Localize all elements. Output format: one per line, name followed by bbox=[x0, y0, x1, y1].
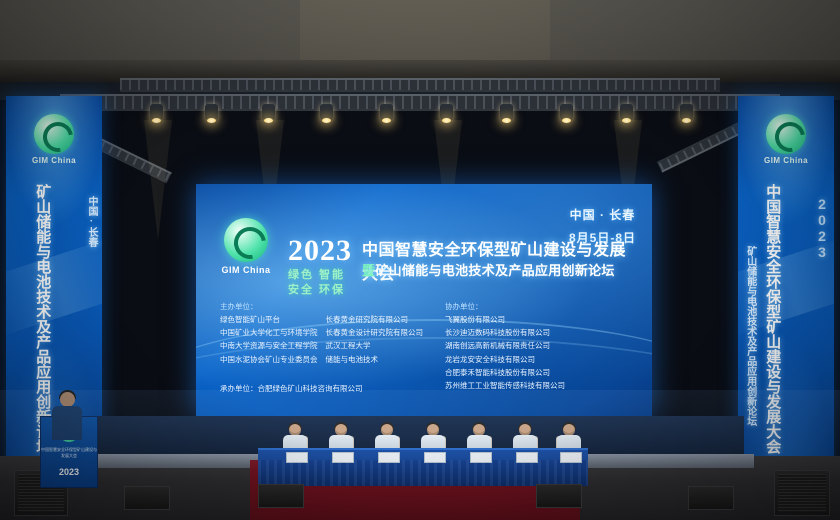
pillar-right-main-text: 中国智慧安全环保型矿山建设与发展大会 bbox=[764, 184, 780, 454]
screen-gim-logo: GIM China bbox=[214, 218, 278, 275]
stage-spotlight bbox=[262, 104, 275, 120]
credit-item: 长春黄金设计研究院有限公司 bbox=[326, 326, 424, 339]
gim-logo-text: GIM China bbox=[764, 156, 808, 165]
credit-item: 中南大学资源与安全工程学院 bbox=[220, 339, 318, 352]
leaf-circle-icon bbox=[766, 114, 806, 154]
event-location: 中国 · 长春 bbox=[569, 206, 636, 223]
credit-item: 绿色智能矿山平台 bbox=[220, 313, 318, 326]
name-plate bbox=[332, 452, 354, 463]
slogan-line-1: 绿色 智能 bbox=[288, 268, 345, 283]
line-array-speaker-right bbox=[774, 470, 830, 516]
light-beam bbox=[144, 120, 172, 240]
credit-label: 主办单位： bbox=[220, 300, 318, 313]
main-led-screen: 中国 · 长春 8月5日-8日 GIM China 2023 绿色 智能 安全 … bbox=[196, 184, 652, 416]
name-plate bbox=[378, 452, 400, 463]
torso bbox=[52, 406, 82, 440]
name-plate bbox=[424, 452, 446, 463]
credit-item: 龙岩龙安安全科技有限公司 bbox=[445, 353, 565, 366]
credit-column: 主办单位： 绿色智能矿山平台 中国矿业大学化工与环境学院 中南大学资源与安全工程… bbox=[220, 300, 318, 392]
host-unit-footer: 承办单位：合肥绿色矿山科技咨询有限公司 bbox=[220, 383, 363, 394]
credit-label bbox=[326, 300, 424, 313]
rollup-title: 中国智慧安全环保型矿山建设与发展大会 bbox=[41, 447, 97, 459]
speaker-grill bbox=[778, 474, 826, 512]
rollup-year: 2023 bbox=[41, 467, 97, 477]
gim-logo-text: GIM China bbox=[32, 156, 76, 165]
name-plate bbox=[470, 452, 492, 463]
stage-spotlight bbox=[680, 104, 693, 120]
credit-item: 长春黄金研究院有限公司 bbox=[326, 313, 424, 326]
event-subtitle: 暨矿山储能与电池技术及产品应用创新论坛 bbox=[362, 260, 642, 279]
slogan-line-2: 安全 环保 bbox=[288, 283, 345, 298]
pillar-swoosh bbox=[6, 235, 102, 337]
organizer-credits: 主办单位： 绿色智能矿山平台 中国矿业大学化工与环境学院 中南大学资源与安全工程… bbox=[220, 300, 634, 392]
credit-item: 飞翼股份有限公司 bbox=[445, 313, 565, 326]
event-slogan: 绿色 智能 安全 环保 bbox=[288, 268, 345, 298]
truss-horizontal-upper bbox=[120, 78, 720, 92]
pillar-left-location: 中国·长春 bbox=[85, 196, 96, 247]
name-plate bbox=[286, 452, 308, 463]
leaf-circle-icon bbox=[34, 114, 74, 154]
credit-item: 合肥泰禾智能科技股份有限公司 bbox=[445, 366, 565, 379]
credit-item: 中国水泥协会矿山专业委员会 bbox=[220, 353, 318, 366]
pillar-right-year: 2023 bbox=[814, 196, 829, 260]
stage-spotlight bbox=[500, 104, 513, 120]
stage-monitor bbox=[536, 484, 582, 508]
credit-item: 苏州维工工业智能传感科技有限公司 bbox=[445, 379, 565, 392]
truss-horizontal-main bbox=[60, 94, 780, 111]
credit-column: 协办单位： 飞翼股份有限公司 长沙迪迈数码科技股份有限公司 湖南创远高新机械有限… bbox=[445, 300, 565, 392]
upper-wall-panel-center bbox=[300, 0, 550, 62]
credit-item: 武汉工程大学 bbox=[326, 339, 424, 352]
stage-monitor bbox=[124, 486, 170, 510]
conference-stage-photo: GIM China 中国·长春 矿山储能与电池技术及产品应用创新论坛 GIM C… bbox=[0, 0, 840, 520]
credit-item: 中国矿业大学化工与环境学院 bbox=[220, 326, 318, 339]
stage-spotlight bbox=[205, 104, 218, 120]
foreground-attendee bbox=[52, 392, 82, 440]
gim-logo-right: GIM China bbox=[758, 114, 814, 176]
stage-spotlight bbox=[150, 104, 163, 120]
table-skirt bbox=[258, 460, 588, 486]
name-plate bbox=[516, 452, 538, 463]
credit-item: 湖南创远高新机械有限责任公司 bbox=[445, 339, 565, 352]
credit-item: 长沙迪迈数码科技股份有限公司 bbox=[445, 326, 565, 339]
pillar-right-sub-text: 矿山储能与电池技术及产品应用创新论坛 bbox=[744, 246, 755, 426]
credit-column: 长春黄金研究院有限公司 长春黄金设计研究院有限公司 武汉工程大学 储能与电池技术 bbox=[326, 300, 424, 392]
head bbox=[60, 392, 75, 407]
stage-spotlight bbox=[560, 104, 573, 120]
leaf-circle-icon bbox=[224, 218, 268, 262]
stage-monitor bbox=[688, 486, 734, 510]
gim-logo-text: GIM China bbox=[214, 265, 278, 275]
pillar-left-main-text: 矿山储能与电池技术及产品应用创新论坛 bbox=[34, 184, 50, 454]
subtitle-text: 矿山储能与电池技术及产品应用创新论坛 bbox=[375, 263, 614, 278]
led-pillar-right: GIM China 2023 中国智慧安全环保型矿山建设与发展大会 矿山储能与电… bbox=[738, 96, 834, 496]
stage-spotlight bbox=[440, 104, 453, 120]
stage-spotlight bbox=[320, 104, 333, 120]
stage-spotlight bbox=[380, 104, 393, 120]
subtitle-mark: 暨 bbox=[362, 263, 375, 278]
event-year: 2023 bbox=[288, 234, 352, 268]
credit-label: 协办单位： bbox=[445, 300, 565, 313]
gim-logo-left: GIM China bbox=[26, 114, 82, 176]
stage-spotlight bbox=[620, 104, 633, 120]
name-plate bbox=[560, 452, 582, 463]
stage-monitor bbox=[258, 484, 304, 508]
credit-item: 储能与电池技术 bbox=[326, 353, 424, 366]
